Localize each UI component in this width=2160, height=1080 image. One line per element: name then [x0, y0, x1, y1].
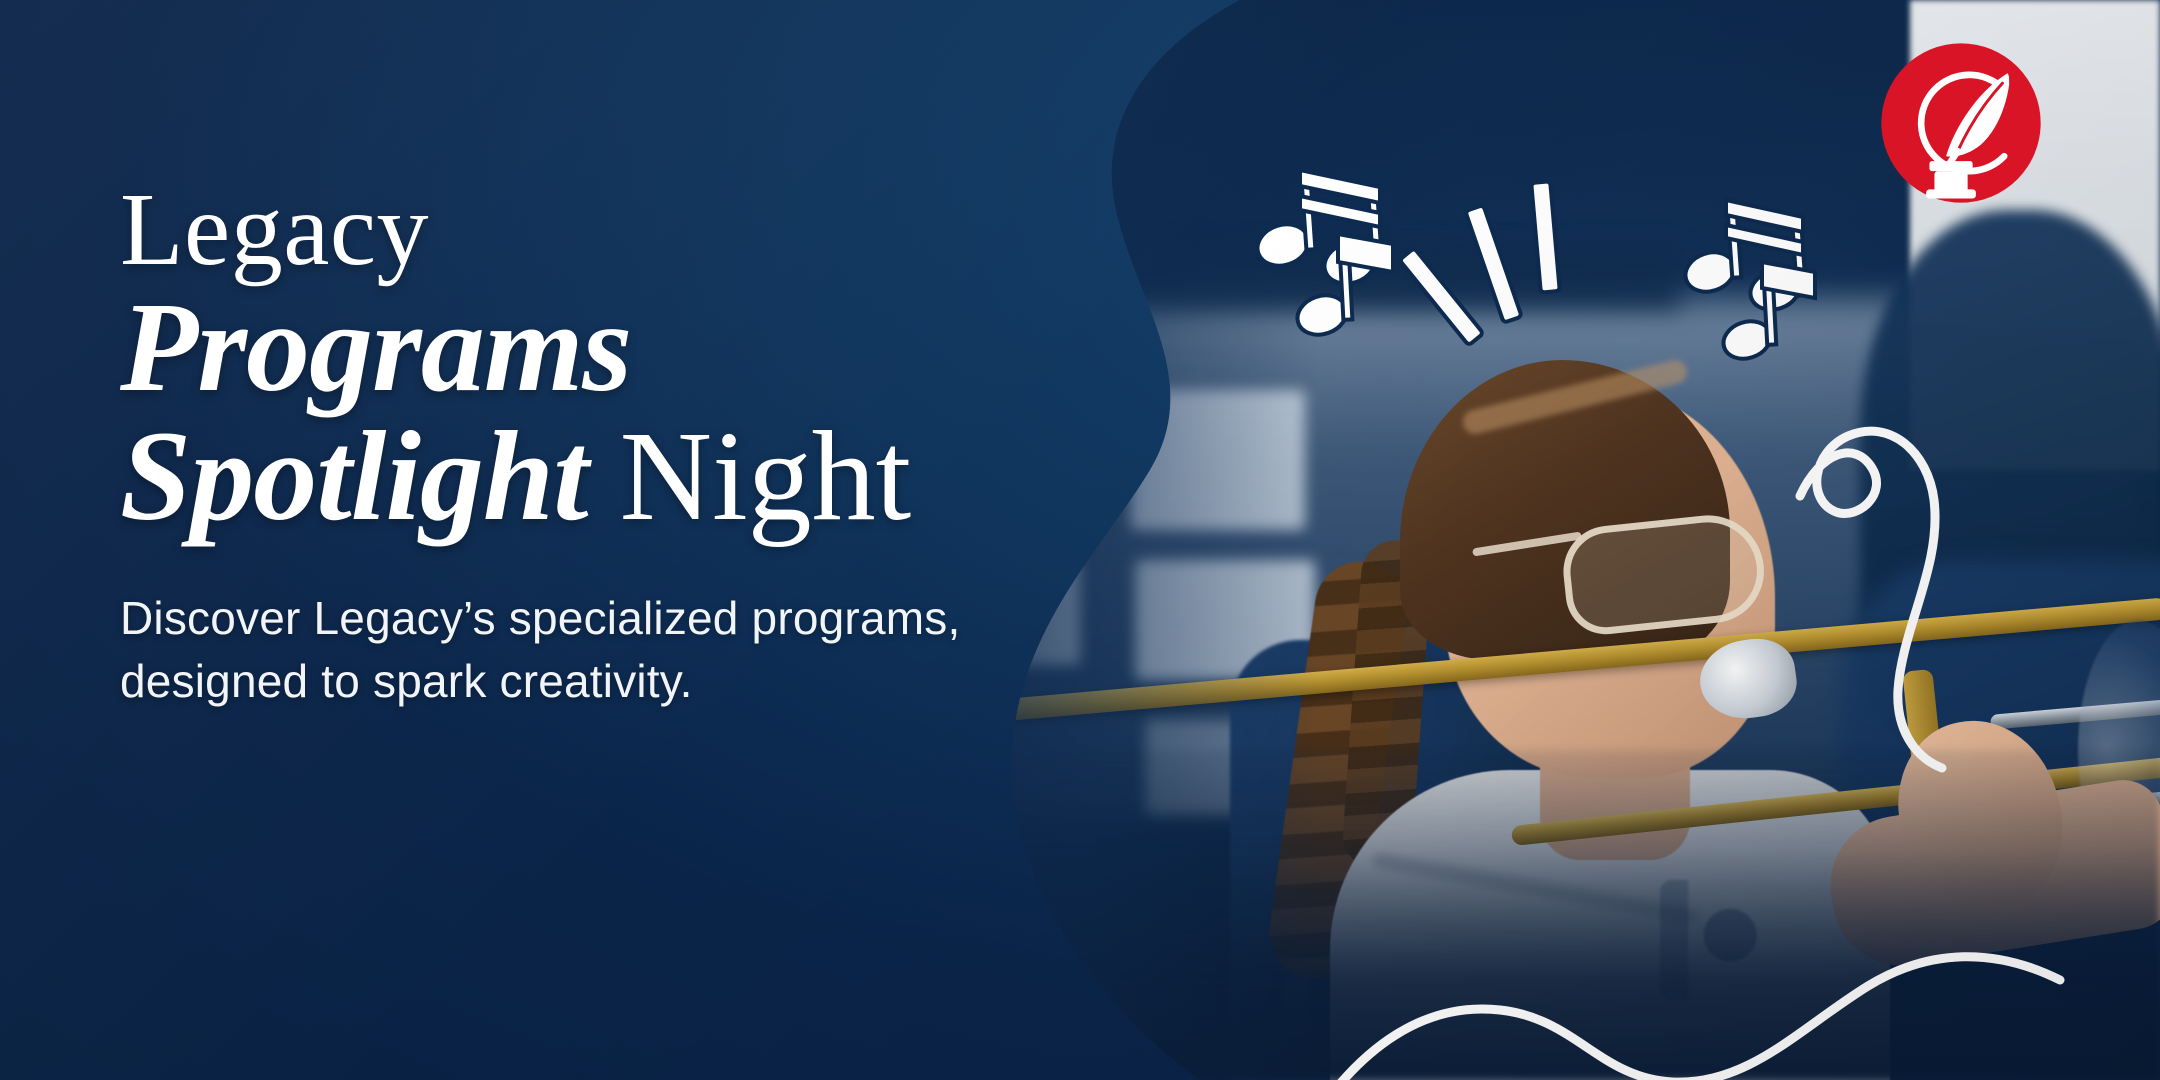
subheadline-line-2: designed to spark creativity.	[120, 650, 1100, 713]
legacy-quill-logo[interactable]	[1878, 40, 2044, 206]
headline-regular: Night	[588, 405, 912, 547]
page-title: Legacy Programs Spotlight Night	[120, 180, 1100, 541]
headline-line-1: Legacy	[120, 180, 1100, 280]
event-banner: Legacy Programs Spotlight Night Discover…	[0, 0, 2160, 1080]
copy-block: Legacy Programs Spotlight Night Discover…	[120, 180, 1100, 712]
inkwell-collar-icon	[1929, 161, 1972, 171]
inkwell-base-icon	[1926, 189, 1976, 198]
headline-line-2: Programs	[120, 286, 1100, 409]
subheadline-line-1: Discover Legacy’s specialized programs,	[120, 587, 1100, 650]
photo-bottom-fade	[900, 850, 2160, 1080]
headline-line-3: Spotlight Night	[120, 411, 1100, 542]
headline-emphasis: Spotlight	[120, 405, 588, 547]
subheadline: Discover Legacy’s specialized programs, …	[120, 587, 1100, 712]
